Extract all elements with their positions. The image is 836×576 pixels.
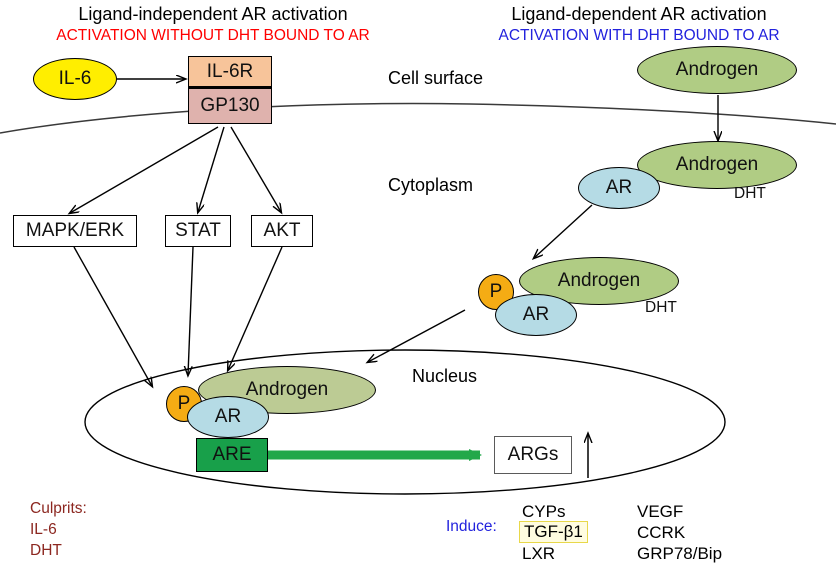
node-il6r[interactable]: IL-6R xyxy=(188,56,272,88)
node-androgen-cytoplasm-upper-label: Androgen xyxy=(676,154,758,176)
nucleus-label: Nucleus xyxy=(412,366,477,387)
arrow-gp130-to-stat xyxy=(198,127,224,212)
induced-gene-vegf: VEGF xyxy=(637,502,683,522)
left-pathway-subtitle: ACTIVATION WITHOUT DHT BOUND TO AR xyxy=(30,27,396,45)
pathway-diagram-canvas: Ligand-independent AR activation ACTIVAT… xyxy=(0,0,836,576)
node-gp130[interactable]: GP130 xyxy=(188,88,272,124)
arrow-ar-complex-translocation xyxy=(534,205,592,258)
cell-surface-label: Cell surface xyxy=(388,68,483,89)
node-are-label: ARE xyxy=(212,444,251,466)
node-args[interactable]: ARGs xyxy=(494,436,572,474)
node-ar-cytoplasm-upper[interactable]: AR xyxy=(578,167,660,209)
arrow-stat-to-nucleus xyxy=(188,247,193,375)
node-ar-cytoplasm-lower[interactable]: AR xyxy=(495,294,577,336)
node-gp130-label: GP130 xyxy=(200,95,259,117)
induced-gene-ccrk: CCRK xyxy=(637,523,685,543)
cell-membrane-curve xyxy=(0,104,836,133)
arrow-mapk-to-nucleus xyxy=(74,247,152,386)
node-ar-cytoplasm-lower-label: AR xyxy=(523,304,549,326)
arrow-gp130-to-akt xyxy=(231,127,281,212)
culprits-item-1: DHT xyxy=(30,542,62,560)
node-phospho-upper-label: P xyxy=(490,281,503,303)
node-args-label: ARGs xyxy=(508,444,559,466)
node-akt[interactable]: AKT xyxy=(251,215,313,247)
node-androgen-extracellular-label: Androgen xyxy=(676,59,758,81)
node-stat-label: STAT xyxy=(175,220,221,242)
dht-tag-upper: DHT xyxy=(734,185,766,203)
node-androgen-cytoplasm-upper[interactable]: Androgen xyxy=(637,141,797,189)
node-androgen-cytoplasm-lower-label: Androgen xyxy=(558,270,640,292)
node-stat[interactable]: STAT xyxy=(165,215,231,247)
induced-gene-grp78bip: GRP78/Bip xyxy=(637,544,722,564)
node-il6[interactable]: IL-6 xyxy=(33,58,117,100)
culprits-item-0: IL-6 xyxy=(30,521,57,539)
node-are[interactable]: ARE xyxy=(196,438,268,472)
culprits-heading: Culprits: xyxy=(30,500,87,518)
cytoplasm-label: Cytoplasm xyxy=(388,175,473,196)
induced-gene-tgfb1: TGF-β1 xyxy=(519,521,588,543)
node-mapk-erk-label: MAPK/ERK xyxy=(26,220,124,242)
nucleus-boundary xyxy=(85,350,725,494)
left-pathway-title: Ligand-independent AR activation xyxy=(52,4,374,25)
arrow-ar-complex-to-nucleus xyxy=(368,310,465,362)
node-androgen-nucleus-label: Androgen xyxy=(246,379,328,401)
node-il6-label: IL-6 xyxy=(59,68,92,90)
node-mapk-erk[interactable]: MAPK/ERK xyxy=(13,215,137,247)
node-akt-label: AKT xyxy=(264,220,301,242)
node-ar-cytoplasm-upper-label: AR xyxy=(606,177,632,199)
node-il6r-label: IL-6R xyxy=(207,61,253,83)
induced-gene-cyps: CYPs xyxy=(522,502,565,522)
induce-label: Induce: xyxy=(446,518,497,536)
arrow-akt-to-nucleus xyxy=(228,247,282,370)
node-ar-nucleus-label: AR xyxy=(215,406,241,428)
dht-tag-lower: DHT xyxy=(645,299,677,317)
node-androgen-extracellular[interactable]: Androgen xyxy=(637,46,797,94)
right-pathway-subtitle: ACTIVATION WITH DHT BOUND TO AR xyxy=(456,27,822,45)
arrow-gp130-to-mapk xyxy=(70,127,218,213)
right-pathway-title: Ligand-dependent AR activation xyxy=(478,4,800,25)
induced-gene-lxr: LXR xyxy=(522,544,555,564)
node-ar-nucleus[interactable]: AR xyxy=(187,396,269,438)
